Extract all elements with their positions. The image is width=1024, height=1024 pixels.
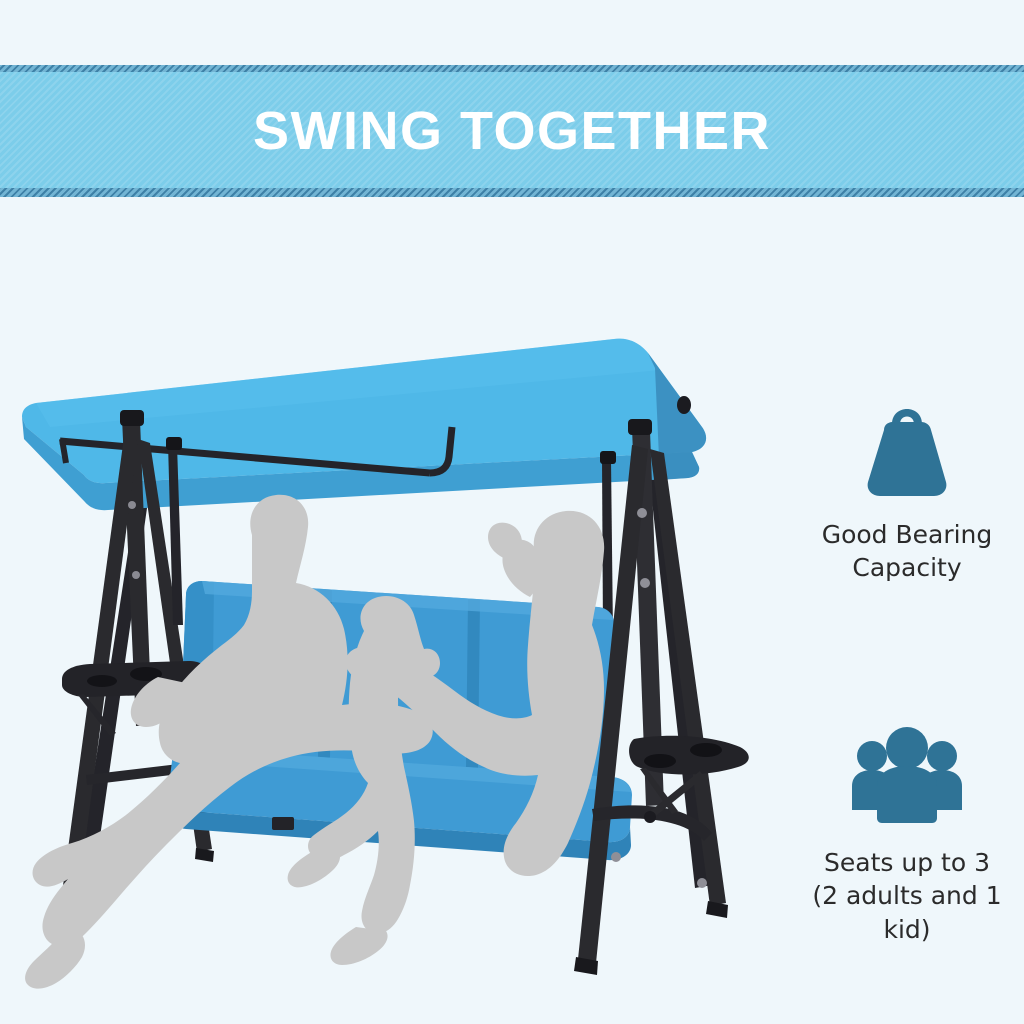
feature-capacity-line-2: Capacity <box>792 551 1022 584</box>
product-illustration <box>0 205 790 1024</box>
weight-icon <box>792 390 1022 502</box>
page-title: SWING TOGETHER <box>253 104 771 158</box>
feature-seats-up-to-three: Seats up to 3 (2 adults and 1 kid) <box>792 718 1022 946</box>
canopy-grommet <box>677 396 691 414</box>
feature-good-bearing-capacity: Good Bearing Capacity <box>792 390 1022 585</box>
banner-bottom-stripe <box>0 188 1024 197</box>
feature-seats-line-2: (2 adults and 1 kid) <box>792 879 1022 946</box>
header-banner: SWING TOGETHER <box>0 65 1024 197</box>
feature-seats-line-1: Seats up to 3 <box>792 846 1022 879</box>
feature-capacity-line-1: Good Bearing <box>792 518 1022 551</box>
product-feature-image: SWING TOGETHER <box>0 0 1024 1024</box>
banner-top-stripe <box>0 65 1024 72</box>
feature-seats-caption: Seats up to 3 (2 adults and 1 kid) <box>792 846 1022 946</box>
group-people-icon <box>792 718 1022 830</box>
feature-capacity-caption: Good Bearing Capacity <box>792 518 1022 585</box>
